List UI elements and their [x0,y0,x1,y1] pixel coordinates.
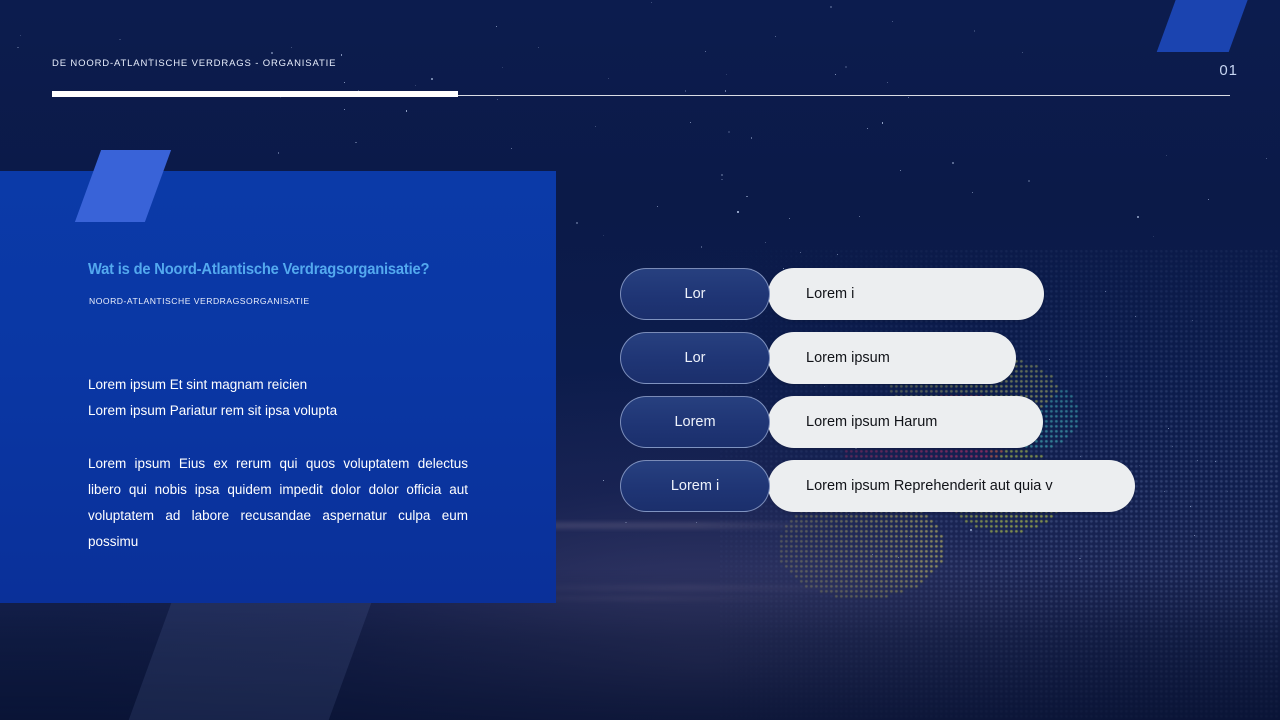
star [909,536,910,537]
panel-subheading: NOORD-ATLANTISCHE VERDRAGSORGANISATIE [89,296,529,306]
star [848,514,849,515]
star [406,110,407,111]
pill-tag[interactable]: Lorem i [620,460,770,512]
header-rule-thick [52,91,458,97]
star [887,82,888,83]
pill-description[interactable]: Lorem ipsum Reprehenderit aut quia v [768,460,1135,512]
star [685,90,686,91]
pill-description-label: Lorem ipsum [806,350,890,366]
star [603,235,604,236]
star [496,26,497,27]
star [1166,155,1167,156]
star [1266,158,1267,159]
star [1080,456,1081,457]
star [751,137,752,138]
star [119,39,120,40]
slide-canvas: DE NOORD-ATLANTISCHE VERDRAGS - ORGANISA… [0,0,1280,720]
star [898,557,899,558]
star [830,6,832,8]
star [20,35,21,36]
star [1208,199,1209,200]
star [726,74,727,75]
star [502,67,503,68]
pill-tag-label: Lorem i [671,478,719,494]
star [789,218,790,219]
star [690,122,691,123]
star [1106,376,1107,377]
star [701,246,702,247]
pill-tag[interactable]: Lor [620,268,770,320]
pill-description-label: Lorem ipsum Reprehenderit aut quia v [806,478,1053,494]
star [280,97,281,98]
star [1153,236,1154,237]
pill-description[interactable]: Lorem i [768,268,1044,320]
star [728,131,730,133]
pill-description-label: Lorem ipsum Harum [806,414,937,430]
star [872,554,873,555]
star [837,254,838,255]
star [1137,216,1139,218]
star [291,47,292,48]
star [608,78,609,79]
star [696,522,697,523]
star [341,54,342,55]
star [603,480,604,481]
star [271,52,273,54]
star [908,97,909,98]
star [1139,465,1140,466]
panel-line-1: Lorem ipsum Et sint magnam reicien [88,372,508,398]
pill-tag-label: Lor [685,286,706,302]
star [859,216,860,217]
pill-description[interactable]: Lorem ipsum Harum [768,396,1043,448]
star [952,162,954,164]
star [657,206,658,207]
star [651,2,652,3]
star [415,85,416,86]
star [775,36,776,37]
star [278,152,279,153]
star [970,529,972,531]
star [1197,460,1198,461]
star [1049,359,1050,360]
star [974,30,975,31]
star [800,252,801,253]
star [511,148,512,149]
star [17,47,18,48]
header-label: DE NOORD-ATLANTISCHE VERDRAGS - ORGANISA… [52,58,336,69]
star [783,268,784,269]
star [1028,180,1030,182]
star [1168,428,1169,429]
star [824,386,825,387]
star [1079,558,1080,559]
panel-heading: Wat is de Noord-Atlantische Verdragsorga… [88,261,506,279]
pill-tag[interactable]: Lor [620,332,770,384]
star [892,21,893,22]
star [1172,446,1173,447]
star [765,242,766,243]
star [882,122,883,123]
star [835,74,836,75]
star [737,211,738,212]
star [1105,291,1106,292]
star [431,78,433,80]
panel-paragraph: Lorem ipsum Eius ex rerum qui quos volup… [88,451,468,555]
star [721,179,722,180]
star [538,47,539,48]
star [758,389,759,390]
star [576,222,577,223]
star [344,82,345,83]
star [595,126,596,127]
star [1194,535,1195,536]
star [1192,320,1193,321]
pill-tag[interactable]: Lorem [620,396,770,448]
pill-description-label: Lorem i [806,286,854,302]
star [972,192,973,193]
panel-line-2: Lorem ipsum Pariatur rem sit ipsa volupt… [88,398,508,424]
star [1227,491,1228,492]
star [1022,52,1023,53]
star [1135,316,1136,317]
star [725,90,726,91]
star [746,196,747,197]
star [344,109,345,110]
page-number: 01 [1219,62,1238,79]
decor-parallelogram-top-right [1157,0,1252,52]
star [625,522,626,523]
star [900,170,901,171]
star [1215,461,1216,462]
star [845,66,846,67]
star [1190,506,1191,507]
star [855,448,856,449]
decor-parallelogram-bottom-left [129,603,372,720]
star [867,128,868,129]
star [1164,491,1165,492]
panel-lines: Lorem ipsum Et sint magnam reicien Lorem… [88,372,508,424]
pill-description[interactable]: Lorem ipsum [768,332,1016,384]
star [721,174,723,176]
pill-tag-label: Lorem [674,414,715,430]
star [705,51,706,52]
star [497,99,498,100]
pill-tag-label: Lor [685,350,706,366]
star [355,142,356,143]
